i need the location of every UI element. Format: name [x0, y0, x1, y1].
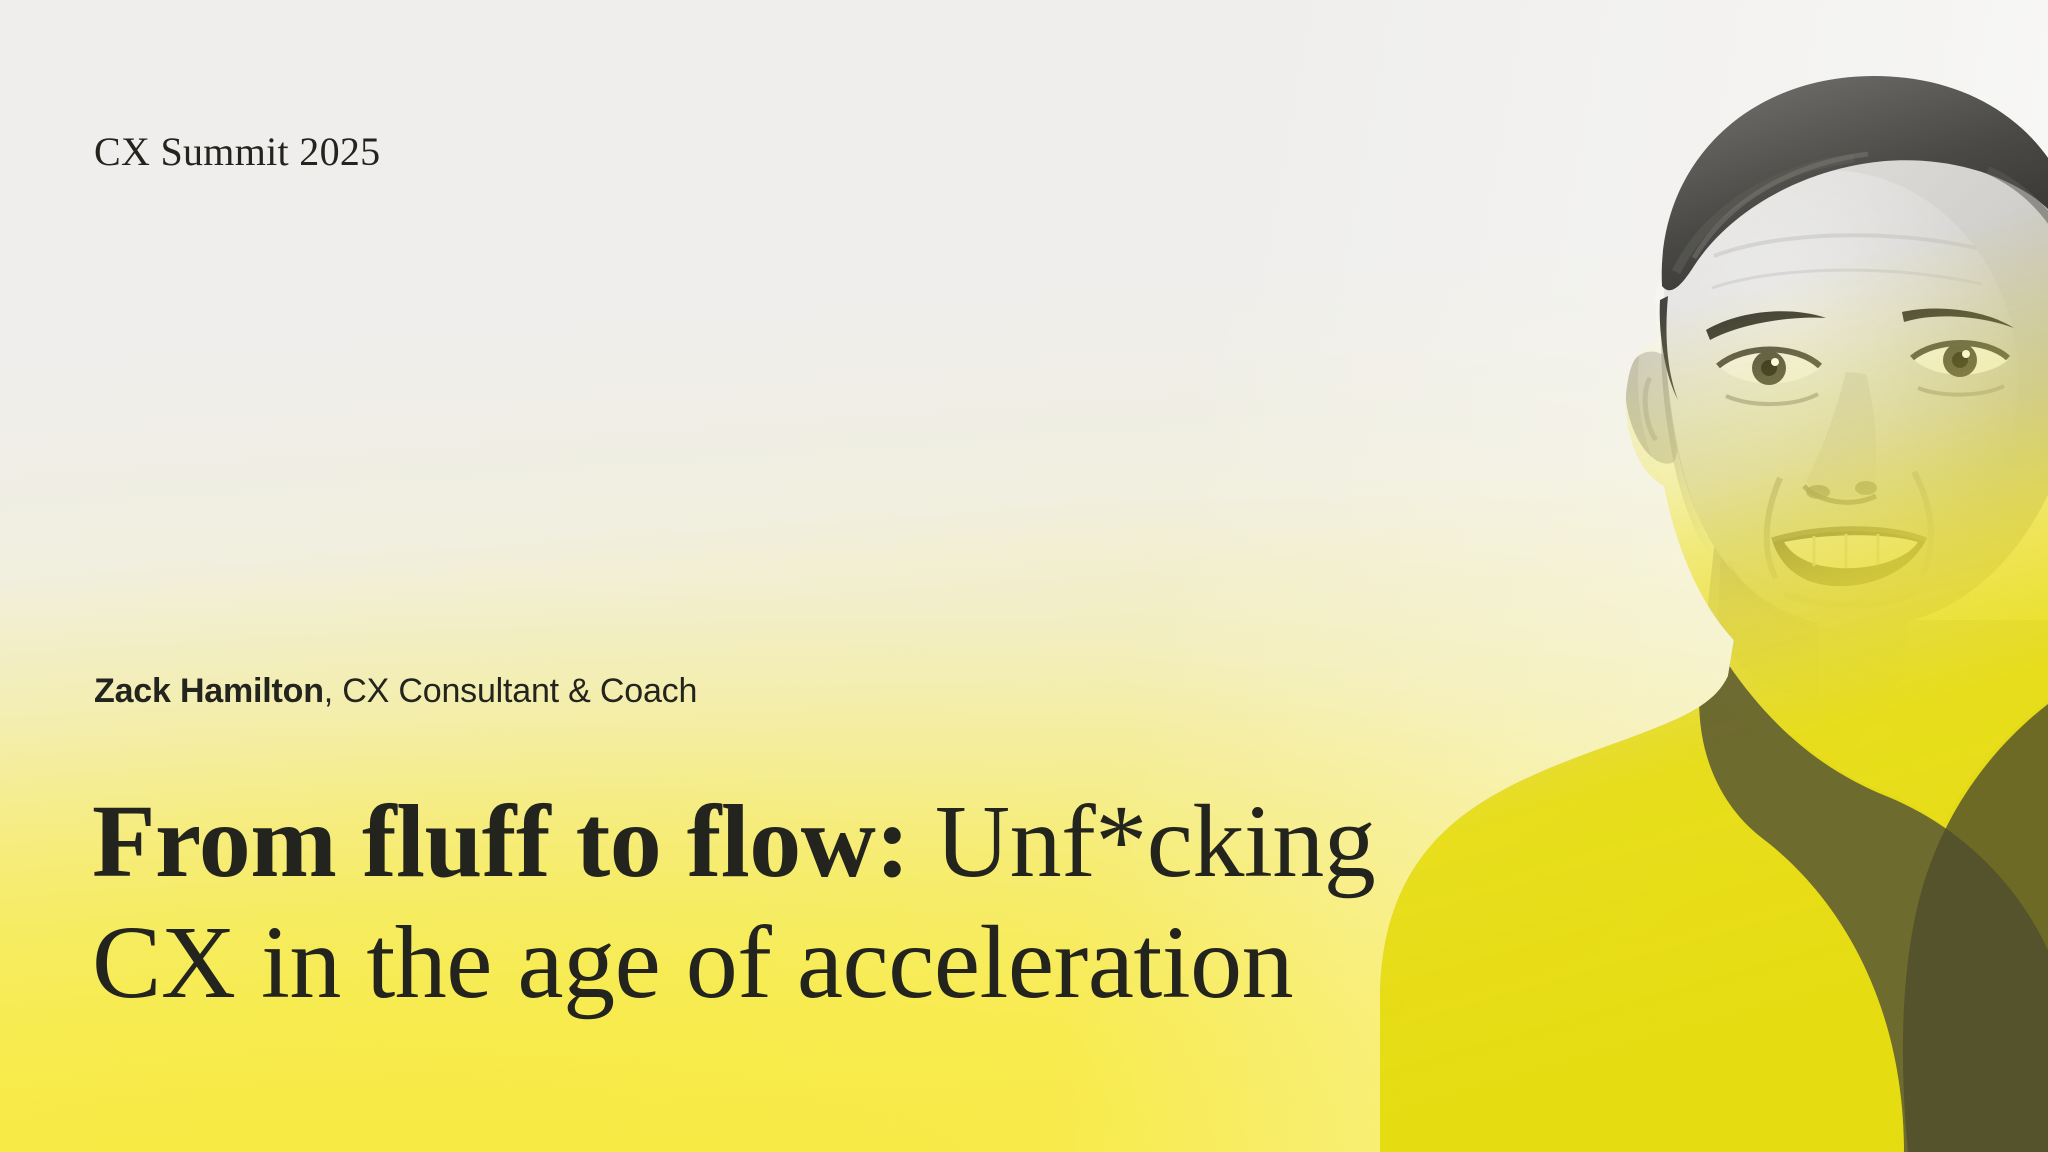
- headline-line-1-light: Unf*cking: [909, 784, 1375, 899]
- headline-line-2: CX in the age of acceleration: [92, 903, 1652, 1024]
- speaker-slide: CX Summit 2025 Zack Hamilton, CX Consult…: [0, 0, 2048, 1152]
- headline-emphasis: From fluff to flow:: [92, 784, 909, 899]
- speaker-role: CX Consultant & Coach: [342, 672, 697, 710]
- event-label: CX Summit 2025: [94, 128, 380, 175]
- headline-line-1: From fluff to flow: Unf*cking: [92, 782, 1652, 903]
- speaker-separator: ,: [324, 672, 343, 710]
- speaker-credit: Zack Hamilton, CX Consultant & Coach: [94, 672, 697, 711]
- speaker-name: Zack Hamilton: [94, 672, 324, 710]
- headline: From fluff to flow: Unf*cking CX in the …: [92, 782, 1652, 1023]
